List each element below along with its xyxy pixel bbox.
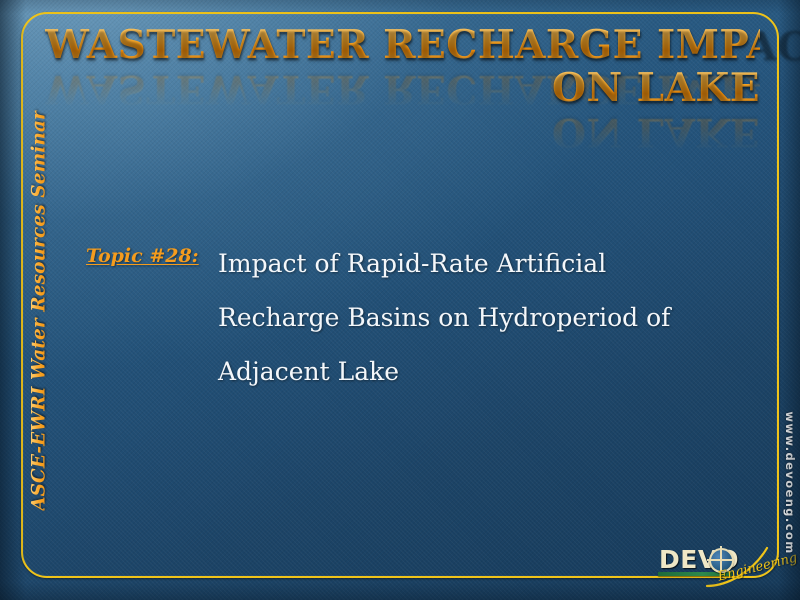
website-url-text: www.devoeng.com [783, 411, 797, 554]
presentation-slide: Wastewater Recharge Impact On Lake Waste… [0, 0, 800, 600]
title-reflection-line-1: Wastewater Recharge Impact [45, 67, 760, 110]
website-url-label: www.devoeng.com [781, 393, 799, 573]
slide-title: Wastewater Recharge Impact On Lake [45, 24, 760, 110]
seminar-series-label: ASCE-EWRI Water Resources Seminar [29, 51, 50, 571]
topic-number-label: Topic #28: [86, 245, 199, 267]
topic-title-text: Impact of Rapid-Rate Artificial Recharge… [218, 237, 706, 399]
topic-title-line-2: Recharge Basins on Hydroperiod of [218, 291, 706, 345]
title-line-1: Wastewater Recharge Impact [45, 24, 760, 67]
slide-body: Topic #28: Impact of Rapid-Rate Artifici… [86, 237, 706, 399]
devo-engineering-logo: DEVO Engineering [655, 540, 775, 592]
topic-title-line-3: Adjacent Lake [218, 345, 706, 399]
title-line-2: On Lake [45, 67, 760, 110]
title-reflection-line-2: On Lake [45, 110, 760, 153]
seminar-series-label-text: ASCE-EWRI Water Resources Seminar [29, 110, 50, 511]
title-reflection-text-2: On Lake [45, 110, 760, 153]
title-reflection-text-1: Wastewater Recharge Impact [45, 67, 760, 110]
topic-title-line-1: Impact of Rapid-Rate Artificial [218, 237, 706, 291]
